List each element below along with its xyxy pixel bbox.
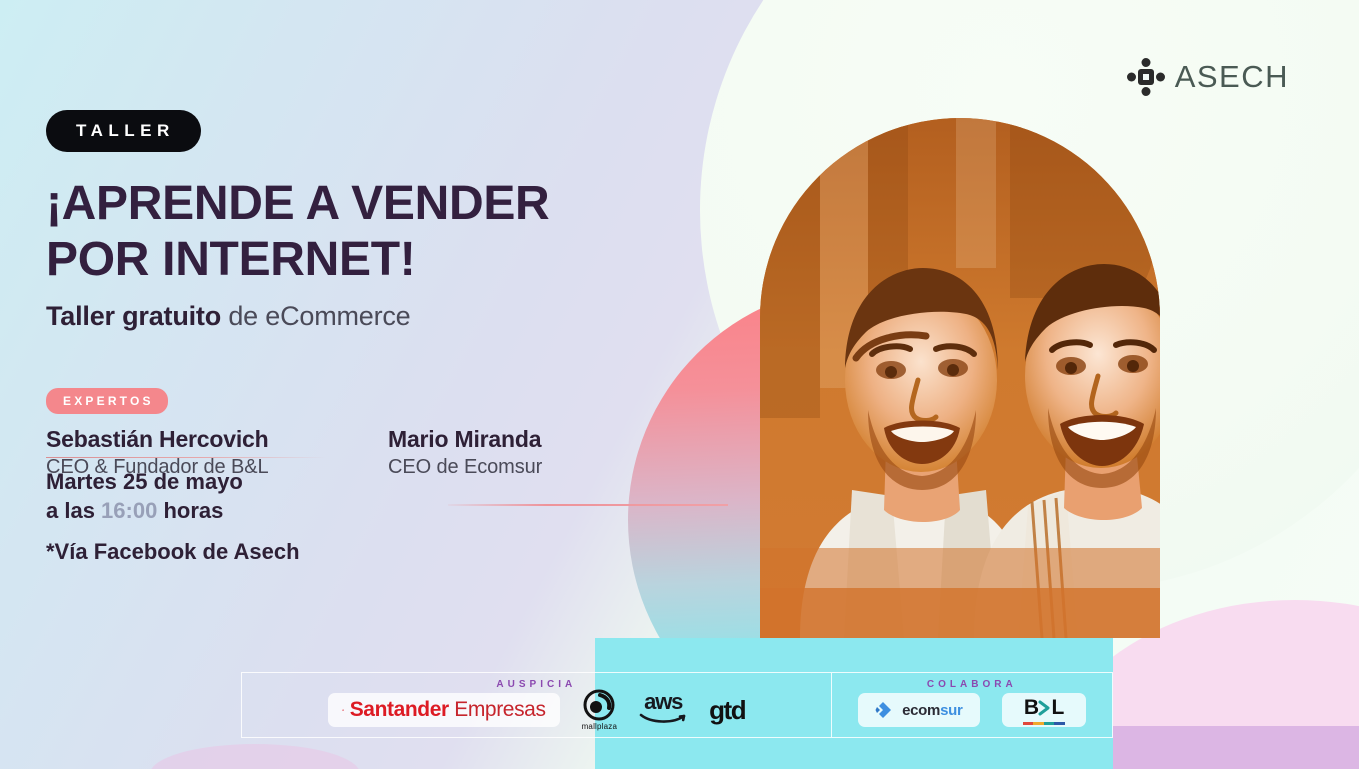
subtitle-strong: Taller gratuito bbox=[46, 301, 221, 331]
sponsor-section-colabora: COLABORA ecomsur B L bbox=[831, 673, 1112, 737]
hero-content: TALLER ¡APRENDE A VENDER POR INTERNET! T… bbox=[46, 0, 666, 488]
santander-name: Santander bbox=[350, 698, 449, 721]
colabora-label: COLABORA bbox=[832, 679, 1112, 690]
byl-chevron-icon bbox=[1038, 700, 1051, 716]
ecomsur-wordmark: ecomsur bbox=[902, 702, 962, 719]
auspicia-label: AUSPICIA bbox=[242, 679, 831, 690]
speaker-name: Mario Miranda bbox=[388, 426, 542, 453]
ecomsur-sur: sur bbox=[940, 702, 962, 719]
event-date: Martes 25 de mayo bbox=[46, 467, 243, 496]
title-line-2: POR INTERNET! bbox=[46, 232, 666, 288]
subtitle-rest: de eCommerce bbox=[221, 301, 410, 331]
page-title: ¡APRENDE A VENDER POR INTERNET! bbox=[46, 176, 666, 287]
logo-ecomsur: ecomsur bbox=[858, 693, 980, 727]
asech-wordmark: ASECH bbox=[1175, 59, 1289, 95]
time-suffix: horas bbox=[157, 498, 223, 523]
logo-mallplaza: mallplaza bbox=[582, 689, 618, 731]
aws-wordmark: aws bbox=[644, 692, 682, 712]
byl-row: B L bbox=[1024, 696, 1064, 720]
byl-letter-b: B bbox=[1024, 696, 1039, 720]
santander-wordmark: Santander Empresas bbox=[350, 698, 546, 722]
ecomsur-ecom: ecom bbox=[902, 702, 940, 719]
logo-aws: aws bbox=[639, 692, 687, 726]
time-prefix: a las bbox=[46, 498, 101, 523]
title-line-1: ¡APRENDE A VENDER bbox=[46, 177, 549, 230]
speakers-photo bbox=[760, 118, 1160, 638]
gtd-wordmark: gtd bbox=[709, 695, 745, 726]
background-violet-band bbox=[1110, 726, 1359, 769]
event-channel: *Vía Facebook de Asech bbox=[46, 539, 300, 565]
speaker-role: CEO de Ecomsur bbox=[388, 456, 542, 479]
santander-flame-icon bbox=[342, 700, 344, 720]
expertos-badge: EXPERTOS bbox=[46, 388, 168, 414]
event-datetime: Martes 25 de mayo a las 16:00 horas bbox=[46, 467, 243, 526]
subtitle: Taller gratuito de eCommerce bbox=[46, 301, 666, 332]
mallplaza-swirl-icon bbox=[583, 689, 615, 721]
poster-canvas: ASECH TALLER ¡APRENDE A VENDER POR INTER… bbox=[0, 0, 1359, 769]
sponsor-strip: AUSPICIA Santander Empresas mallplaza aw… bbox=[241, 672, 1113, 738]
logo-santander: Santander Empresas bbox=[328, 693, 560, 727]
mallplaza-wordmark: mallplaza bbox=[582, 722, 618, 731]
event-time: 16:00 bbox=[101, 498, 157, 523]
byl-color-bar bbox=[1023, 722, 1065, 725]
background-pink-accent bbox=[150, 744, 360, 769]
event-time-row: a las 16:00 horas bbox=[46, 496, 243, 525]
speaker-name: Sebastián Hercovich bbox=[46, 426, 268, 453]
santander-empresas: Empresas bbox=[454, 698, 545, 721]
byl-mark: B L bbox=[1023, 696, 1065, 725]
sponsor-section-auspicia: AUSPICIA Santander Empresas mallplaza aw… bbox=[242, 673, 831, 737]
ecomsur-diamond-icon bbox=[875, 700, 895, 720]
logo-byl: B L bbox=[1002, 693, 1086, 727]
divider-left bbox=[46, 457, 326, 458]
byl-letter-l: L bbox=[1051, 696, 1063, 720]
aws-smile-icon bbox=[639, 712, 687, 726]
taller-badge: TALLER bbox=[46, 110, 201, 152]
asech-logo: ASECH bbox=[1126, 57, 1289, 97]
divider-right bbox=[448, 504, 728, 506]
asech-floret-icon bbox=[1126, 57, 1166, 97]
speaker-item: Mario Miranda CEO de Ecomsur bbox=[388, 426, 542, 479]
logo-gtd: gtd bbox=[709, 695, 745, 726]
